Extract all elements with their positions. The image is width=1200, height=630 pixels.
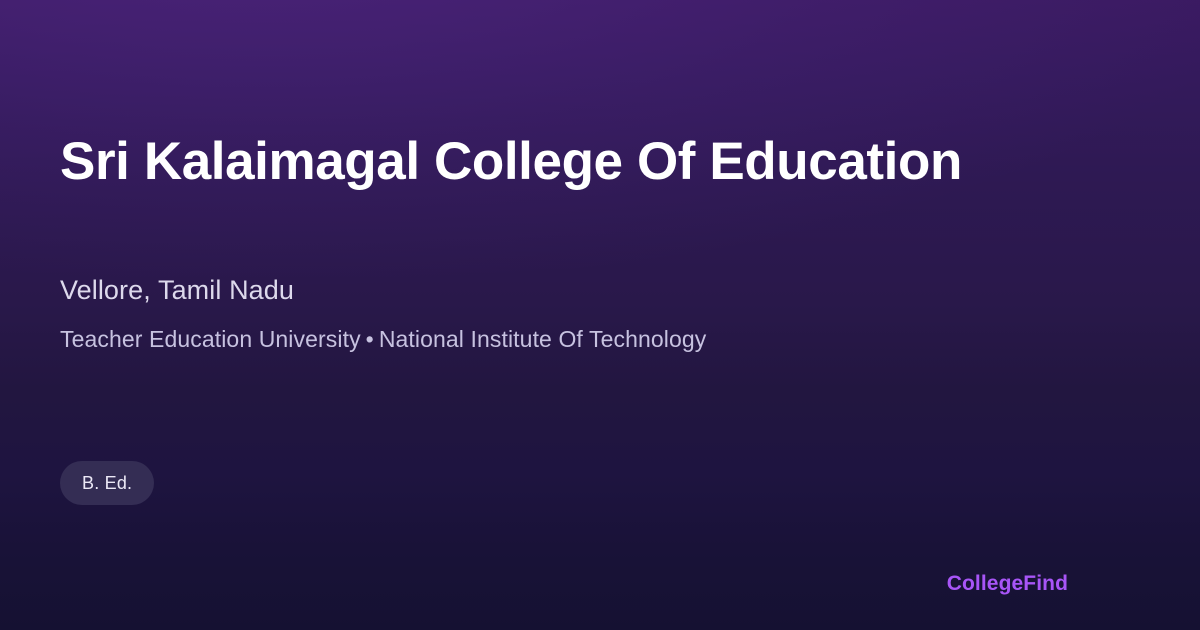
brand-wordmark: CollegeFind [947, 570, 1068, 598]
headline-block: Sri Kalaimagal College Of Education [60, 131, 1140, 193]
degree-badge: B. Ed. [60, 461, 154, 505]
descriptor-primary: Teacher Education University [60, 326, 361, 352]
tags-row: B. Ed. [60, 461, 154, 505]
card-content: Sri Kalaimagal College Of Education Vell… [0, 0, 1200, 630]
descriptor-secondary: National Institute Of Technology [379, 326, 707, 352]
social-share-card: Sri Kalaimagal College Of Education Vell… [0, 0, 1200, 630]
meta-block: Vellore, Tamil Nadu Teacher Education Un… [60, 272, 1140, 354]
descriptor-line: Teacher Education University•National In… [60, 324, 1140, 354]
bullet-separator-icon: • [361, 326, 379, 352]
page-title: Sri Kalaimagal College Of Education [60, 131, 1140, 193]
location-text: Vellore, Tamil Nadu [60, 272, 1140, 308]
